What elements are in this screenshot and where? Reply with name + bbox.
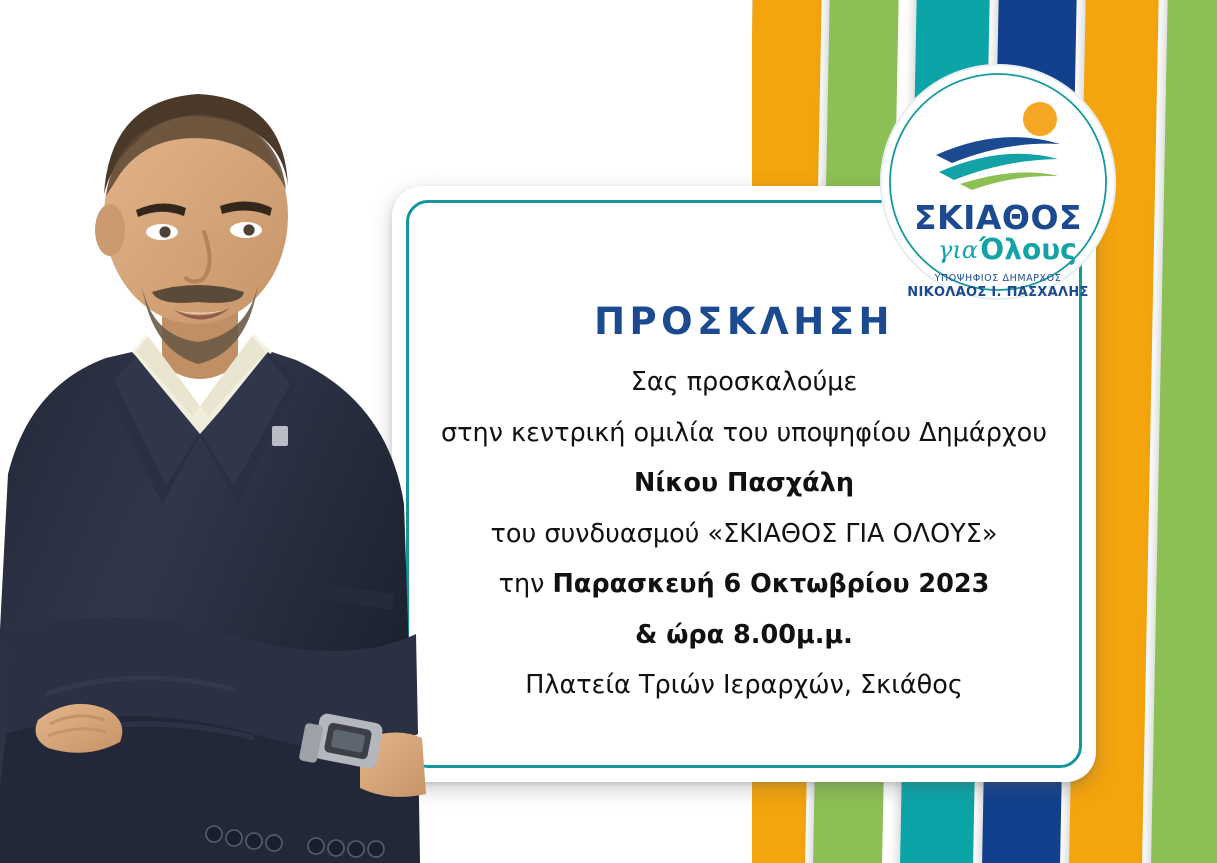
logo-role-label: ΥΠΟΨΗΦΙΟΣ ΔΗΜΑΡΧΟΣ <box>934 273 1062 284</box>
invitation-line-greeting: Σας προσκαλούμε <box>631 370 858 396</box>
logo-brand-main: ΣΚΙΑΘΟΣ <box>914 198 1082 237</box>
logo-candidate-name: ΝΙΚΟΛΑΟΣ Ι. ΠΑΣΧΑΛΗΣ <box>907 285 1088 300</box>
invitation-line-time: & ώρα 8.00μ.μ. <box>635 623 853 649</box>
campaign-logo-badge: ΣΚΙΑΘΟΣ για Όλους ΥΠΟΨΗΦΙΟΣ ΔΗΜΑΡΧΟΣ ΝΙΚ… <box>878 62 1118 302</box>
invitation-line-venue: Πλατεία Τριών Ιεραρχών, Σκιάθος <box>525 673 963 699</box>
invitation-date-prefix: την <box>499 569 553 599</box>
logo-brand-script: για <box>938 236 978 264</box>
logo-brand-script-bold: Όλους <box>978 233 1076 266</box>
invitation-date-value: Παρασκευή 6 Οκτωβρίου 2023 <box>552 569 989 599</box>
invitation-title: ΠΡΟΣΚΛΗΣΗ <box>594 303 894 340</box>
candidate-portrait <box>0 34 456 863</box>
invitation-line-party: του συνδυασμού «ΣΚΙΑΘΟΣ ΓΙΑ ΟΛΟΥΣ» <box>491 522 998 548</box>
stripe-green-2 <box>1148 0 1217 863</box>
invitation-line-speech: στην κεντρική ομιλία του υποψηφίου Δημάρ… <box>441 421 1047 447</box>
sun-icon <box>1023 102 1057 136</box>
invitation-poster: ΠΡΟΣΚΛΗΣΗ Σας προσκαλούμε στην κεντρική … <box>0 0 1217 863</box>
invitation-line-date: την Παρασκευή 6 Οκτωβρίου 2023 <box>499 572 990 598</box>
invitation-candidate-name: Νίκου Πασχάλη <box>634 471 854 497</box>
